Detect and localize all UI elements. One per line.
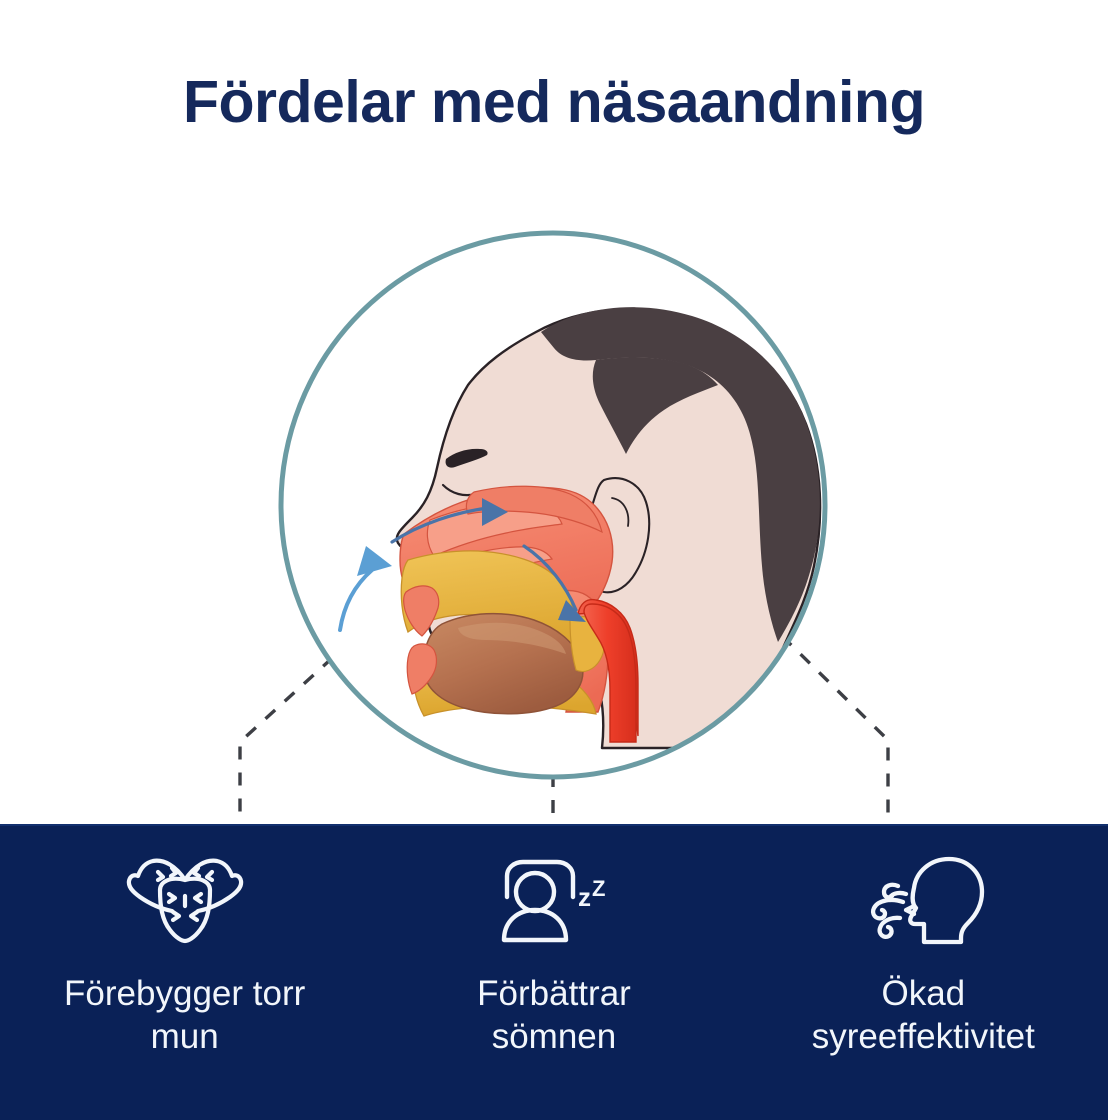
benefits-banner: Förebygger torr mun <box>0 824 1108 1120</box>
benefit-label-line2: sömnen <box>492 1017 617 1056</box>
head-breathing-airflow-icon <box>858 846 988 950</box>
benefits-columns: Förebygger torr mun <box>0 824 1108 1120</box>
benefit-label-oxygen-efficiency: Ökad syreeffektivitet <box>753 972 1093 1059</box>
benefit-label-line1: Ökad <box>881 974 965 1013</box>
anatomy-illustration <box>0 0 1108 840</box>
benefit-label-line2: syreeffektivitet <box>812 1017 1035 1056</box>
zzz-small-letter: z <box>578 882 591 912</box>
benefit-item-better-sleep[interactable]: z Z Förbättrar sömnen <box>369 824 738 1059</box>
benefit-label-better-sleep: Förbättrar sömnen <box>404 972 704 1059</box>
benefit-label-dry-mouth: Förebygger torr mun <box>5 972 365 1059</box>
zzz-large-letter: Z <box>592 876 605 901</box>
benefit-item-dry-mouth[interactable]: Förebygger torr mun <box>0 824 369 1059</box>
sleeping-person-zzz-icon: z Z <box>495 846 613 950</box>
infographic-page: Fördelar med näsaandning <box>0 0 1108 1120</box>
connector-right <box>782 636 888 824</box>
benefit-item-oxygen-efficiency[interactable]: Ökad syreeffektivitet <box>739 824 1108 1059</box>
dry-mouth-lips-icon <box>124 846 246 950</box>
benefit-label-line2: mun <box>151 1017 219 1056</box>
illustration-stage <box>0 0 1108 840</box>
benefit-label-line1: Förbättrar <box>477 974 631 1013</box>
benefit-label-line1: Förebygger torr <box>64 974 305 1013</box>
